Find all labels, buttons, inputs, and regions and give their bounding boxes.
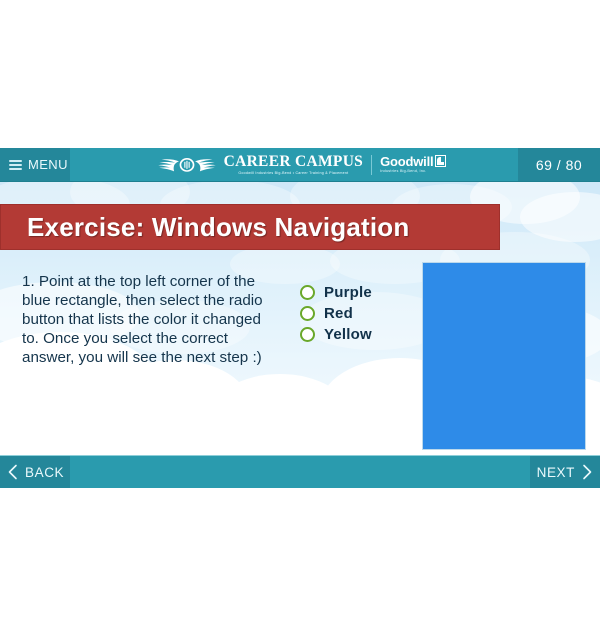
blue-rectangle[interactable] xyxy=(422,262,586,450)
page-margin-bottom xyxy=(0,488,600,634)
chevron-right-icon xyxy=(582,464,593,480)
radio-option-purple[interactable]: Purple xyxy=(300,282,372,302)
goodwill-title-row: Goodwill xyxy=(380,155,446,168)
instruction-text: 1. Point at the top left corner of the b… xyxy=(22,272,274,367)
radio-option-label: Red xyxy=(324,305,353,322)
career-campus-wings-logo-icon xyxy=(154,154,220,176)
slide-title-banner: Exercise: Windows Navigation xyxy=(0,204,500,250)
screenshot-root: MENU CAREER CAMPUS Goodwill Indus xyxy=(0,0,600,634)
course-slide: MENU CAREER CAMPUS Goodwill Indus xyxy=(0,148,600,488)
radio-option-red[interactable]: Red xyxy=(300,303,372,323)
goodwill-tagline: Industries Big-Bend, Inc. xyxy=(380,170,446,174)
chevron-left-icon xyxy=(7,464,18,480)
goodwill-title: Goodwill xyxy=(380,155,433,168)
brand-logos: CAREER CAMPUS Goodwill Industries Big-Be… xyxy=(0,148,600,181)
page-margin-top xyxy=(0,0,600,148)
page-title: Exercise: Windows Navigation xyxy=(1,212,409,243)
bottom-navigation-bar: BACK NEXT xyxy=(0,455,600,488)
radio-option-yellow[interactable]: Yellow xyxy=(300,324,372,344)
radio-option-label: Purple xyxy=(324,284,372,301)
goodwill-logo: Goodwill Industries Big-Bend, Inc. xyxy=(380,155,446,174)
career-campus-tagline: Goodwill Industries Big-Bend • Career Tr… xyxy=(238,172,348,176)
brand-divider xyxy=(371,155,372,175)
back-button-label: BACK xyxy=(25,465,64,480)
career-campus-text: CAREER CAMPUS Goodwill Industries Big-Be… xyxy=(224,154,364,176)
back-button[interactable]: BACK xyxy=(0,456,70,488)
menu-button[interactable]: MENU xyxy=(0,148,70,181)
page-counter: 69 / 80 xyxy=(518,148,600,181)
radio-button-icon[interactable] xyxy=(300,327,315,342)
radio-option-label: Yellow xyxy=(324,326,372,343)
top-navigation-bar: MENU CAREER CAMPUS Goodwill Indus xyxy=(0,148,600,182)
next-button-label: NEXT xyxy=(537,465,575,480)
answer-choices: Purple Red Yellow xyxy=(300,282,372,344)
radio-button-icon[interactable] xyxy=(300,306,315,321)
menu-button-label: MENU xyxy=(28,157,68,172)
radio-button-icon[interactable] xyxy=(300,285,315,300)
next-button[interactable]: NEXT xyxy=(530,456,600,488)
hamburger-icon xyxy=(9,160,22,170)
career-campus-logo: CAREER CAMPUS Goodwill Industries Big-Be… xyxy=(154,154,364,176)
goodwill-smiling-g-icon xyxy=(435,155,446,167)
career-campus-title: CAREER CAMPUS xyxy=(224,154,364,170)
